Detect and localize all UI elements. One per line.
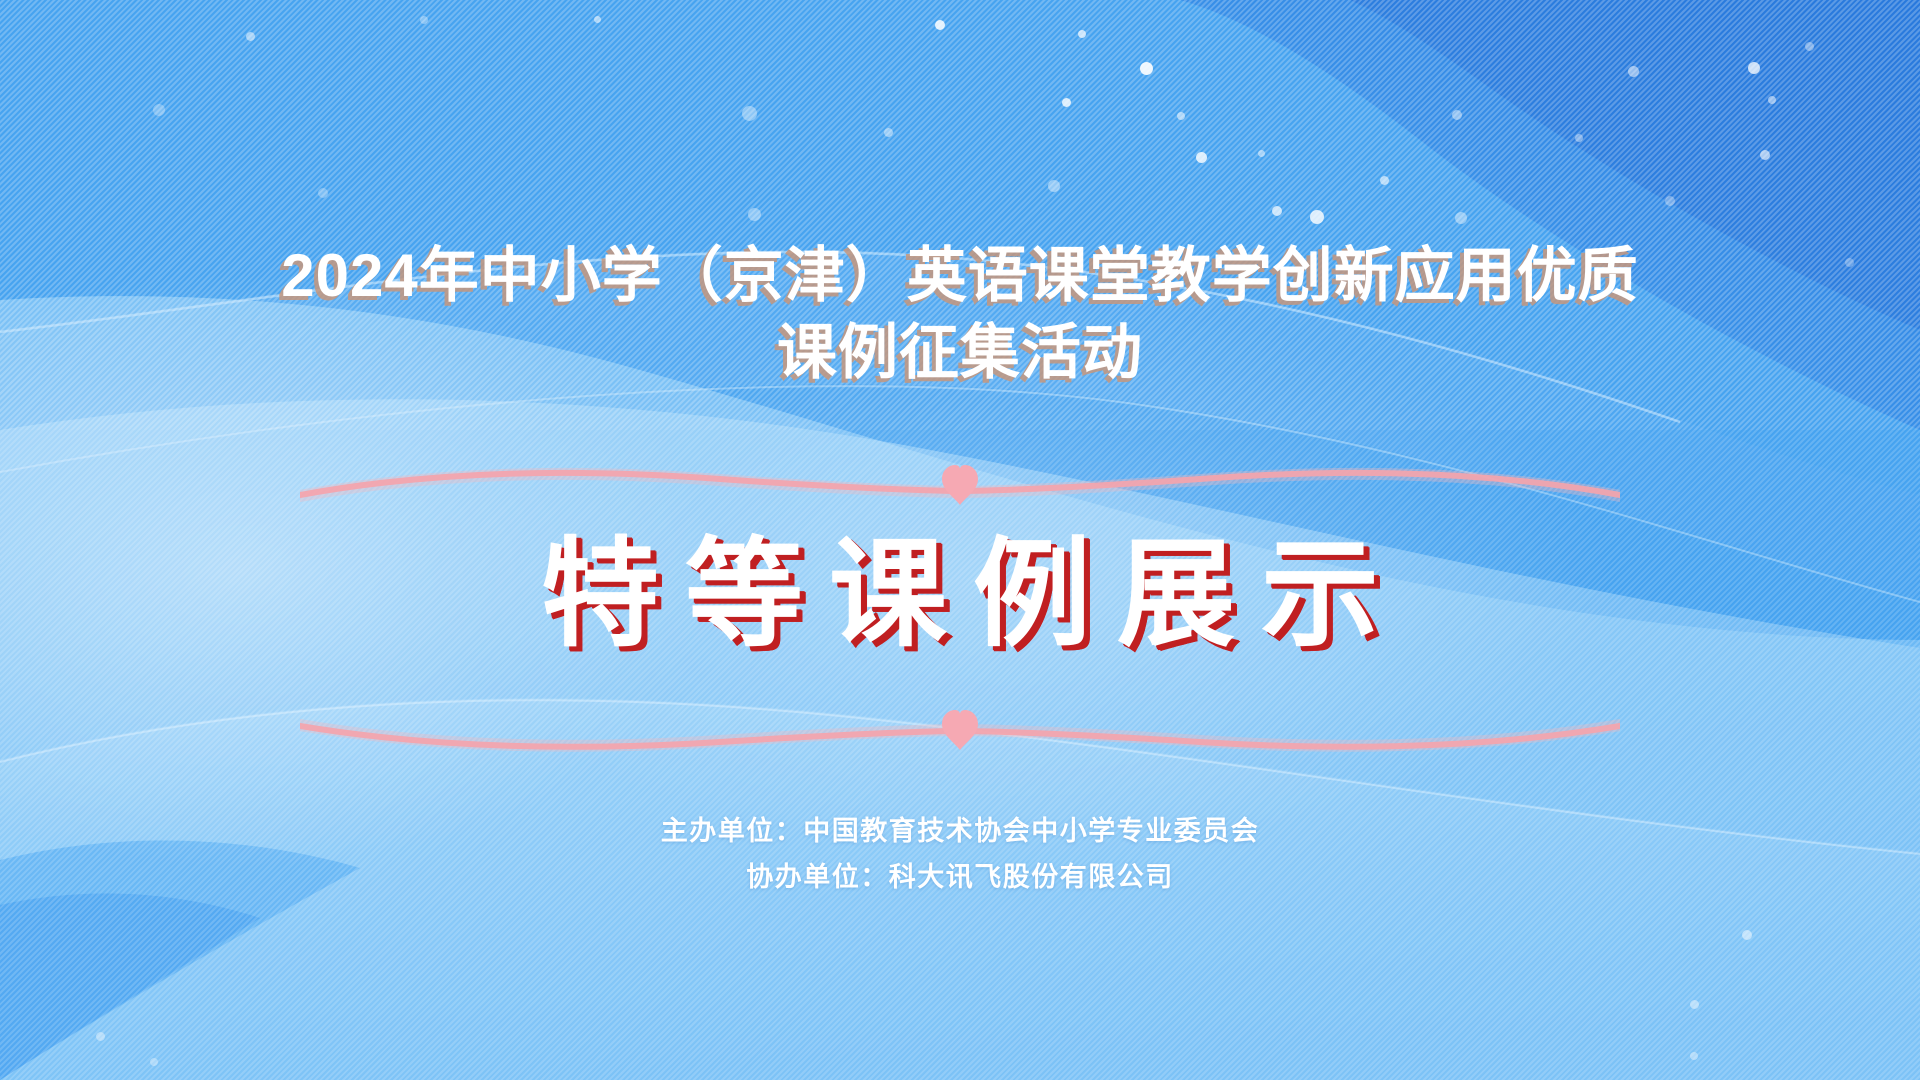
heart-icon xyxy=(942,465,978,505)
divider-bottom xyxy=(300,700,1620,764)
event-title-line-1: 2024年中小学（京津）英语课堂教学创新应用优质 xyxy=(0,238,1920,315)
poster-content: 2024年中小学（京津）英语课堂教学创新应用优质 课例征集活动 特等课例展示 主… xyxy=(0,0,1920,1080)
host-organization: 主办单位：中国教育技术协会中小学专业委员会 xyxy=(0,808,1920,854)
poster-canvas: 2024年中小学（京津）英语课堂教学创新应用优质 课例征集活动 特等课例展示 主… xyxy=(0,0,1920,1080)
divider-top xyxy=(300,455,1620,519)
cohost-organization: 协办单位：科大讯飞股份有限公司 xyxy=(0,854,1920,900)
event-title-line-2: 课例征集活动 xyxy=(0,315,1920,392)
event-title-block: 2024年中小学（京津）英语课堂教学创新应用优质 课例征集活动 xyxy=(0,238,1920,392)
organizer-block: 主办单位：中国教育技术协会中小学专业委员会 协办单位：科大讯飞股份有限公司 xyxy=(0,808,1920,901)
headline-text: 特等课例展示 xyxy=(0,528,1920,664)
heart-icon xyxy=(942,710,978,750)
